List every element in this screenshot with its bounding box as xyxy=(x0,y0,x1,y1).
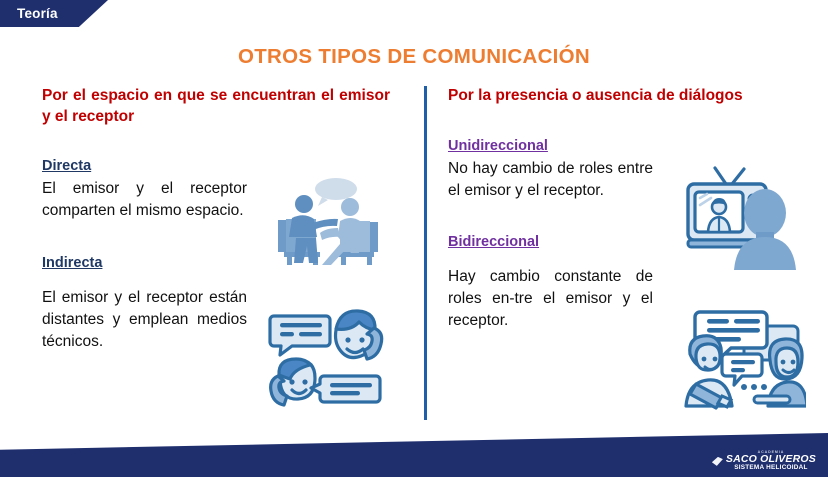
theory-tab: Teoría xyxy=(0,0,108,27)
body-indirecta: El emisor y el receptor están distantes … xyxy=(42,287,247,353)
column-divider xyxy=(424,86,427,420)
subheading-directa: Directa xyxy=(42,158,91,174)
footer-band: ACADEMIA SACO OLIVEROS SISTEMA HELICOIDA… xyxy=(0,433,828,477)
theory-tab-label: Teoría xyxy=(0,6,58,21)
slide-canvas: Teoría OTROS TIPOS DE COMUNICACIÓN Por e… xyxy=(0,0,828,477)
column-left-heading: Por el espacio en que se encuentran el e… xyxy=(42,86,390,127)
footer-band-shape xyxy=(0,433,828,477)
two-people-conversation-chat-bubbles-icon xyxy=(682,302,806,415)
saco-oliveros-logo: ACADEMIA SACO OLIVEROS SISTEMA HELICOIDA… xyxy=(712,451,816,472)
person-watching-television-icon xyxy=(682,166,802,275)
subheading-indirecta: Indirecta xyxy=(42,255,102,271)
logo-text: ACADEMIA SACO OLIVEROS SISTEMA HELICOIDA… xyxy=(726,451,816,472)
logo-subtitle: SISTEMA HELICOIDAL xyxy=(726,465,816,472)
subheading-bidireccional: Bidireccional xyxy=(448,234,539,250)
page-title: OTROS TIPOS DE COMUNICACIÓN xyxy=(0,45,828,69)
two-people-on-phone-with-chat-bubbles-icon xyxy=(266,302,384,413)
body-directa: El emisor y el receptor comparten el mis… xyxy=(42,178,247,222)
two-people-talking-in-armchairs-icon xyxy=(272,176,384,273)
body-unidireccional: No hay cambio de roles entre el emisor y… xyxy=(448,158,653,202)
logo-leaf-icon xyxy=(712,457,723,466)
subheading-unidireccional: Unidireccional xyxy=(448,138,548,154)
column-right-heading: Por la presencia o ausencia de diálogos xyxy=(448,86,796,107)
body-bidireccional: Hay cambio constante de roles en-tre el … xyxy=(448,266,653,332)
